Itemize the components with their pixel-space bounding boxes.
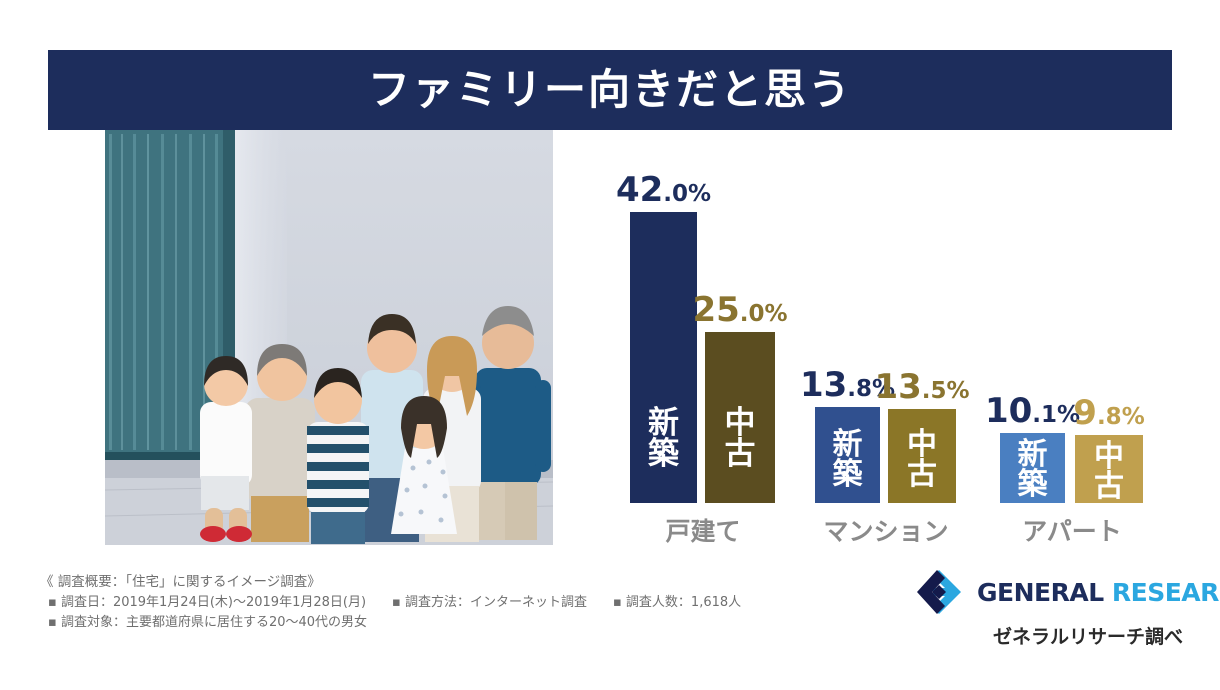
poster-root: ファミリー向きだと思う <box>0 0 1220 690</box>
logo-word-general: GENERAL <box>977 578 1104 607</box>
logo-lockup: GENERAL RESEARCH <box>915 568 1185 616</box>
bar-groups: 42.0% 新 築 25.0% 中 古 <box>590 150 1190 550</box>
person-boy <box>307 368 369 544</box>
family-photo-image <box>105 130 553 545</box>
general-research-mark-icon <box>915 568 967 616</box>
category-label-kodate: 戸建て <box>665 512 740 548</box>
value-dec: .8 <box>847 376 872 402</box>
bar-group-mansion: 13.8% 新 築 13.5% 中 古 <box>815 203 956 503</box>
value-int: 9 <box>1073 393 1097 433</box>
bar-mansion-shinchiku[interactable]: 13.8% 新 築 <box>815 407 880 503</box>
bar-rect-kodate-chuko: 中 古 <box>705 332 775 503</box>
value-label-kodate-shinchiku: 42.0% <box>616 173 711 212</box>
bar-text-apart-shinchiku: 新 築 <box>1018 440 1048 501</box>
bar-group-apart: 10.1% 新 築 9.8% 中 古 <box>1000 203 1143 503</box>
bar-rect-mansion-chuko: 中 古 <box>888 409 956 503</box>
bars-apart: 10.1% 新 築 9.8% 中 古 <box>1000 203 1143 503</box>
value-int: 13 <box>800 365 847 405</box>
family-photo <box>105 130 553 545</box>
value-int: 25 <box>692 290 739 330</box>
value-int: 42 <box>616 170 663 210</box>
logo-subtitle: ゼネラルリサーチ調べ <box>915 622 1185 649</box>
bar-apart-chuko[interactable]: 9.8% 中 古 <box>1075 435 1143 503</box>
bar-kodate-shinchiku[interactable]: 42.0% 新 築 <box>630 212 697 503</box>
bar-text-mansion-shinchiku: 新 築 <box>833 430 863 491</box>
survey-row-1: ▪ 調査日：2019年1月24日(木)〜2019年1月28日(月) ▪ 調査方法… <box>40 593 740 613</box>
value-dec: .0 <box>663 181 688 207</box>
bar-kodate-chuko[interactable]: 25.0% 中 古 <box>705 332 775 503</box>
bar-text-kodate-chuko: 中 古 <box>725 408 756 471</box>
value-pct: % <box>765 301 788 327</box>
value-int: 10 <box>985 391 1032 431</box>
title-banner: ファミリー向きだと思う <box>48 50 1172 130</box>
bar-text-mansion-chuko: 中 古 <box>907 430 937 491</box>
value-pct: % <box>947 378 970 404</box>
bar-rect-kodate-shinchiku: 新 築 <box>630 212 697 503</box>
bar-rect-apart-chuko: 中 古 <box>1075 435 1143 503</box>
bar-rect-mansion-shinchiku: 新 築 <box>815 407 880 503</box>
category-label-mansion: マンション <box>823 512 948 548</box>
survey-sample-size: ▪ 調査人数：1,618人 <box>613 593 741 613</box>
value-label-kodate-chuko: 25.0% <box>692 293 787 332</box>
bar-apart-shinchiku[interactable]: 10.1% 新 築 <box>1000 433 1065 503</box>
survey-target: ▪ 調査対象：主要都道府県に居住する20〜40代の男女 <box>40 613 367 633</box>
bar-group-kodate: 42.0% 新 築 25.0% 中 古 <box>630 203 775 503</box>
value-label-apart-chuko: 9.8% <box>1073 396 1144 435</box>
value-dec: .1 <box>1032 402 1057 428</box>
survey-date: ▪ 調査日：2019年1月24日(木)〜2019年1月28日(月) <box>40 593 366 613</box>
survey-notes: 《 調査概要：「住宅」に関するイメージ調査》 ▪ 調査日：2019年1月24日(… <box>40 572 740 633</box>
value-pct: % <box>1122 404 1145 430</box>
logo-word-research: RESEARCH <box>1112 578 1220 607</box>
bars-kodate: 42.0% 新 築 25.0% 中 古 <box>630 203 775 503</box>
survey-method: ▪ 調査方法：インターネット調査 <box>392 593 587 613</box>
value-label-apart-shinchiku: 10.1% <box>985 394 1080 433</box>
value-int: 13 <box>874 367 921 407</box>
general-research-logo: GENERAL RESEARCH ゼネラルリサーチ調べ <box>915 568 1185 638</box>
logo-wordmark: GENERAL RESEARCH <box>977 580 1220 605</box>
value-dec: .0 <box>740 301 765 327</box>
survey-heading: 《 調査概要：「住宅」に関するイメージ調査》 <box>40 572 740 593</box>
bars-mansion: 13.8% 新 築 13.5% 中 古 <box>815 203 956 503</box>
bar-mansion-chuko[interactable]: 13.5% 中 古 <box>888 409 956 503</box>
value-dec: .5 <box>922 378 947 404</box>
bar-text-kodate-shinchiku: 新 築 <box>648 408 679 471</box>
value-label-mansion-chuko: 13.5% <box>874 370 969 409</box>
category-label-apart: アパート <box>1022 512 1122 548</box>
bar-text-apart-chuko: 中 古 <box>1094 442 1124 503</box>
page-title: ファミリー向きだと思う <box>368 69 852 111</box>
bar-chart: 42.0% 新 築 25.0% 中 古 <box>590 150 1190 550</box>
survey-row-2: ▪ 調査対象：主要都道府県に居住する20〜40代の男女 <box>40 613 740 633</box>
bar-rect-apart-shinchiku: 新 築 <box>1000 433 1065 503</box>
value-dec: .8 <box>1097 404 1122 430</box>
value-pct: % <box>688 181 711 207</box>
